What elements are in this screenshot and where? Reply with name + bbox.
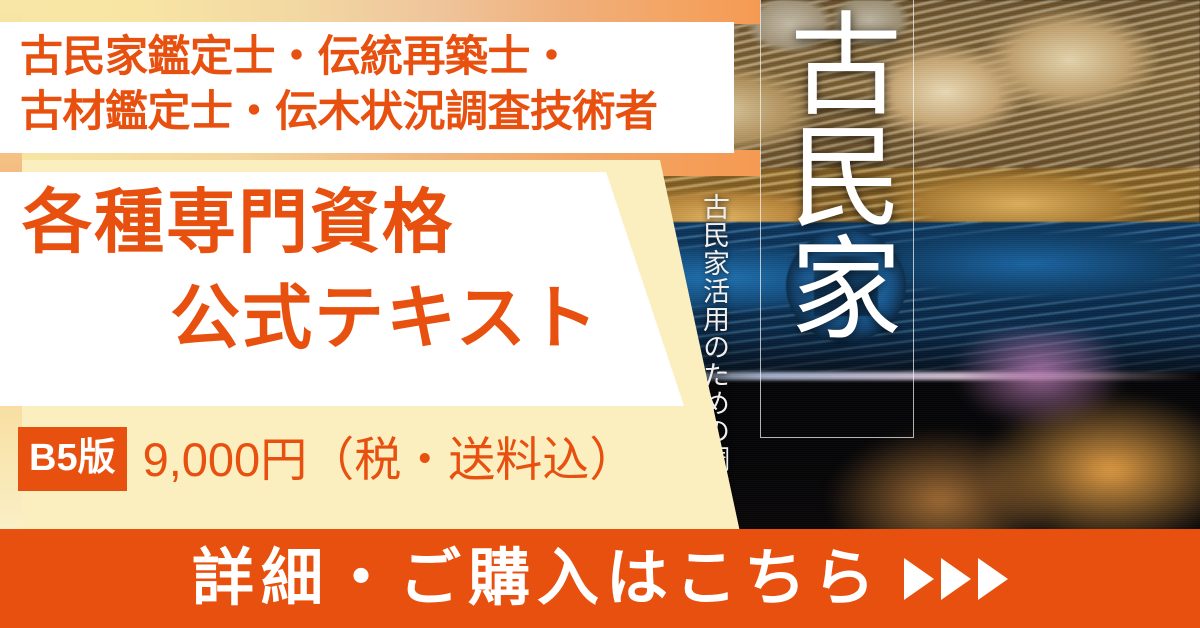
play-triangle-icon (978, 558, 1008, 600)
certifications-text: 古民家鑑定士・伝統再築士・ 古材鑑定士・伝木状況調査技術者 (20, 30, 734, 139)
cta-label: 詳細・ご購入はこちら (192, 548, 882, 610)
price-row: B5版 9,000円（税・送料込） (18, 428, 636, 490)
play-triangle-icon (941, 558, 971, 600)
certifications-line-1: 古民家鑑定士・伝統再築士・ (20, 30, 734, 85)
book-title: 古民家 (768, 6, 906, 342)
certifications-line-2: 古材鑑定士・伝木状況調査技術者 (20, 85, 734, 140)
headline-line-1: 各種専門資格 (22, 187, 454, 257)
headline-line-2: 公式テキスト (170, 283, 600, 353)
price-text: 9,000円（税・送料込） (143, 436, 637, 483)
promo-banner: 古民家 伝統構法 古民家活用のための調査と再生の 古民家鑑定士・伝統再築士・ 古… (0, 0, 1200, 628)
cta-arrows (904, 558, 1008, 600)
top-gradient-strip (0, 0, 760, 24)
play-triangle-icon (904, 558, 934, 600)
format-badge: B5版 (18, 427, 127, 491)
cta-bar[interactable]: 詳細・ご購入はこちら (0, 529, 1200, 628)
